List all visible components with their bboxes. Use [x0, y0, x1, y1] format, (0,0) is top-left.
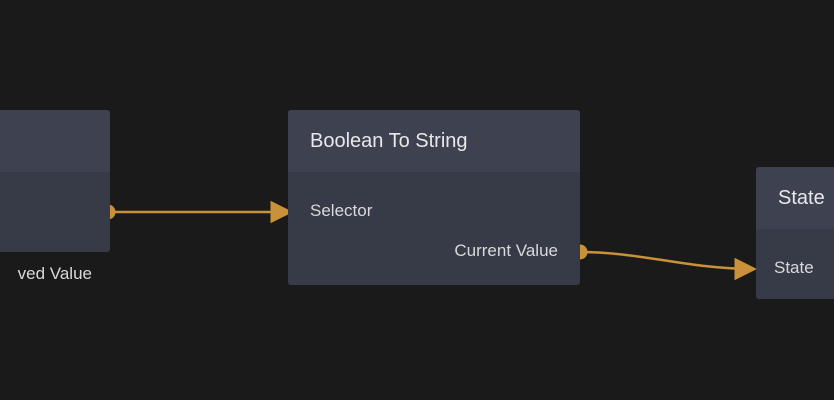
port-in-state[interactable]: State: [774, 258, 814, 278]
node-left-body: ved Value: [0, 172, 110, 252]
node-boolean-to-string-title: Boolean To String: [288, 130, 468, 153]
node-right-header[interactable]: State: [756, 167, 834, 229]
node-left-header[interactable]: [0, 110, 110, 172]
port-label-selector: Selector: [310, 201, 372, 221]
node-right-body: State: [756, 229, 834, 299]
node-right[interactable]: State State: [756, 167, 834, 299]
port-label-current-value: Current Value: [454, 241, 558, 261]
port-out-current-value[interactable]: Current Value: [454, 241, 558, 261]
connection-wire-2: [580, 252, 752, 269]
node-right-title: State: [756, 187, 825, 210]
node-boolean-to-string-body: Selector Current Value: [288, 172, 580, 285]
node-boolean-to-string-header[interactable]: Boolean To String: [288, 110, 580, 172]
node-graph-canvas[interactable]: ved Value Boolean To String Selector Cur…: [0, 0, 834, 400]
port-out-ved-value[interactable]: ved Value: [18, 264, 92, 284]
port-in-selector[interactable]: Selector: [310, 201, 372, 221]
node-left[interactable]: ved Value: [0, 110, 110, 252]
node-boolean-to-string[interactable]: Boolean To String Selector Current Value: [288, 110, 580, 285]
port-label-ved-value: ved Value: [18, 264, 92, 284]
port-label-state: State: [774, 258, 814, 278]
